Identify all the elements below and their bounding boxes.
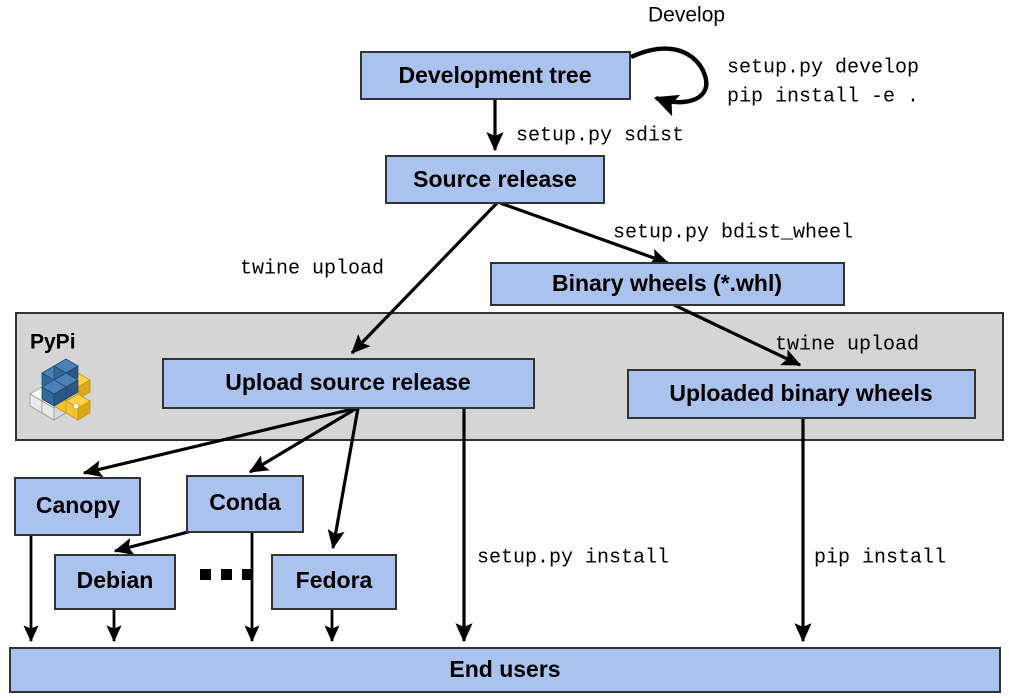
label-setup-py-bdist-wheel: setup.py bdist_wheel (613, 221, 853, 244)
node-uploaded-binary-wheels[interactable]: Uploaded binary wheels (628, 370, 975, 418)
end-users-label: End users (449, 656, 560, 682)
edge-develop-loop (631, 49, 706, 103)
node-upload-source-release[interactable]: Upload source release (163, 359, 534, 408)
label-develop: Develop (648, 4, 725, 27)
label-twine-upload-source: twine upload (240, 257, 384, 280)
node-binary-wheels[interactable]: Binary wheels (*.whl) (491, 263, 844, 305)
label-setup-py-install: setup.py install (477, 546, 669, 569)
debian-label: Debian (77, 567, 154, 593)
label-setup-py-sdist: setup.py sdist (516, 124, 684, 147)
ellipsis-dot-1 (200, 569, 211, 580)
fedora-label: Fedora (296, 567, 373, 593)
label-twine-upload-wheels: twine upload (775, 333, 919, 356)
node-end-users[interactable]: End users (10, 648, 1000, 692)
ellipsis-dot-2 (221, 569, 232, 580)
node-source-release[interactable]: Source release (386, 156, 604, 203)
development-tree-label: Development tree (398, 62, 591, 88)
conda-label: Conda (209, 489, 281, 515)
node-canopy[interactable]: Canopy (15, 478, 140, 535)
node-development-tree[interactable]: Development tree (361, 52, 630, 99)
label-pip-install: pip install (814, 546, 946, 569)
node-conda[interactable]: Conda (187, 476, 303, 532)
uploaded-binary-wheels-label: Uploaded binary wheels (669, 380, 932, 406)
source-release-label: Source release (413, 166, 577, 192)
label-pip-install-editable: pip install -e . (727, 85, 919, 108)
node-fedora[interactable]: Fedora (272, 555, 396, 609)
binary-wheels-label: Binary wheels (*.whl) (552, 270, 782, 296)
packaging-flow-diagram: PyPi (0, 0, 1009, 698)
ellipsis-dots (200, 569, 253, 580)
ellipsis-dot-3 (242, 569, 253, 580)
upload-source-release-label: Upload source release (225, 369, 470, 395)
label-setup-py-develop: setup.py develop (727, 56, 919, 79)
node-debian[interactable]: Debian (55, 555, 175, 609)
pypi-panel-title: PyPi (30, 331, 76, 354)
diagram-canvas: PyPi (0, 0, 1009, 698)
canopy-label: Canopy (36, 492, 121, 518)
